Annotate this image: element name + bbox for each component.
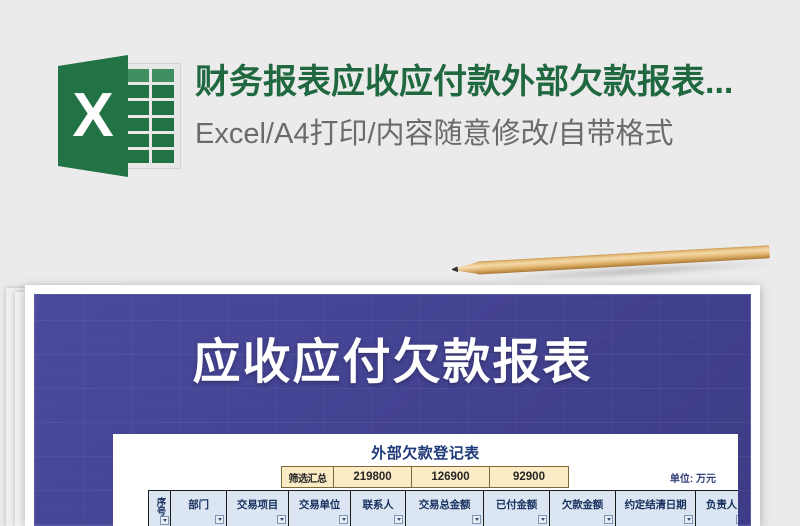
- excel-grid-cell: [126, 101, 149, 114]
- table-header-cell[interactable]: 联系人: [351, 491, 406, 526]
- excel-grid-cell: [152, 85, 175, 98]
- document-preview-card[interactable]: 应收应付欠款报表 外部欠款登记表 筛选汇总 219800 126900 9290…: [25, 285, 760, 526]
- summary-value-total: 219800: [334, 467, 412, 487]
- document-title: 应收应付欠款报表: [35, 339, 750, 387]
- filter-dropdown-icon[interactable]: [684, 515, 693, 524]
- filter-dropdown-icon[interactable]: [736, 515, 738, 524]
- excel-grid-cell: [126, 69, 149, 82]
- table-header-label: 联系人: [363, 497, 394, 512]
- table-header-label: 约定结清日期: [625, 497, 687, 512]
- excel-grid-cell: [126, 85, 149, 98]
- excel-grid-cells: [126, 69, 174, 163]
- table-header-row: 序号部门交易项目交易单位联系人交易总金额已付金额欠款金额约定结清日期负责人状态备…: [148, 490, 738, 526]
- excel-grid-cell: [152, 118, 175, 131]
- table-header-cell[interactable]: 欠款金额: [550, 491, 616, 526]
- header-text-block: 财务报表应收应付款外部欠款报表... Excel/A4打印/内容随意修改/自带格…: [195, 55, 733, 152]
- pencil-lead: [452, 266, 458, 272]
- promo-header: X 财务报表应收应付款外部欠款报表... Excel/A4打印/内容随意修改/自…: [0, 0, 800, 250]
- table-header-cell[interactable]: 负责人: [696, 491, 738, 526]
- table-header-cell[interactable]: 已付金额: [484, 491, 550, 526]
- table-header-cell[interactable]: 约定结清日期: [616, 491, 696, 526]
- summary-row: 筛选汇总 219800 126900 92900: [281, 466, 569, 488]
- table-header-label: 部门: [188, 497, 209, 512]
- summary-label: 筛选汇总: [282, 467, 334, 487]
- excel-grid-cell: [152, 69, 175, 82]
- filter-dropdown-icon[interactable]: [339, 515, 348, 524]
- table-header-cell[interactable]: 交易单位: [289, 491, 351, 526]
- table-header-label: 已付金额: [496, 497, 537, 512]
- excel-grid-cell: [152, 101, 175, 114]
- filter-dropdown-icon[interactable]: [604, 515, 613, 524]
- excel-grid-cell: [152, 150, 175, 163]
- table-header-label: 欠款金额: [562, 497, 603, 512]
- filter-dropdown-icon[interactable]: [277, 515, 286, 524]
- summary-value-owed: 92900: [490, 467, 568, 487]
- excel-letter-x: X: [58, 55, 128, 177]
- table-header-cell[interactable]: 序号: [149, 491, 171, 526]
- excel-grid-cell: [126, 118, 149, 131]
- page-subtitle: Excel/A4打印/内容随意修改/自带格式: [195, 116, 733, 152]
- table-header-label: 交易总金额: [419, 497, 471, 512]
- table-header-cell[interactable]: 交易项目: [227, 491, 289, 526]
- spreadsheet-panel: 外部欠款登记表 筛选汇总 219800 126900 92900 单位: 万元 …: [113, 434, 738, 526]
- excel-grid-cell: [152, 134, 175, 147]
- table-header-label: 交易项目: [237, 497, 278, 512]
- table-header-label: 交易单位: [299, 497, 340, 512]
- table-header-cell[interactable]: 部门: [171, 491, 227, 526]
- header-content: X 财务报表应收应付款外部欠款报表... Excel/A4打印/内容随意修改/自…: [58, 55, 733, 177]
- spreadsheet-title: 外部欠款登记表: [113, 442, 738, 463]
- summary-value-paid: 126900: [412, 467, 490, 487]
- filter-dropdown-icon[interactable]: [538, 515, 547, 524]
- excel-grid-cell: [126, 134, 149, 147]
- filter-dropdown-icon[interactable]: [472, 515, 481, 524]
- table-header-label: 序号: [155, 497, 165, 516]
- filter-dropdown-icon[interactable]: [215, 515, 224, 524]
- excel-logo-icon: X: [58, 55, 183, 177]
- filter-dropdown-icon[interactable]: [394, 515, 403, 524]
- table-header-label: 负责人: [706, 497, 737, 512]
- table-header-cell[interactable]: 交易总金额: [406, 491, 484, 526]
- unit-label: 单位: 万元: [670, 470, 716, 485]
- excel-grid-cell: [126, 150, 149, 163]
- page-title: 财务报表应收应付款外部欠款报表...: [195, 61, 733, 104]
- filter-dropdown-icon[interactable]: [160, 516, 169, 525]
